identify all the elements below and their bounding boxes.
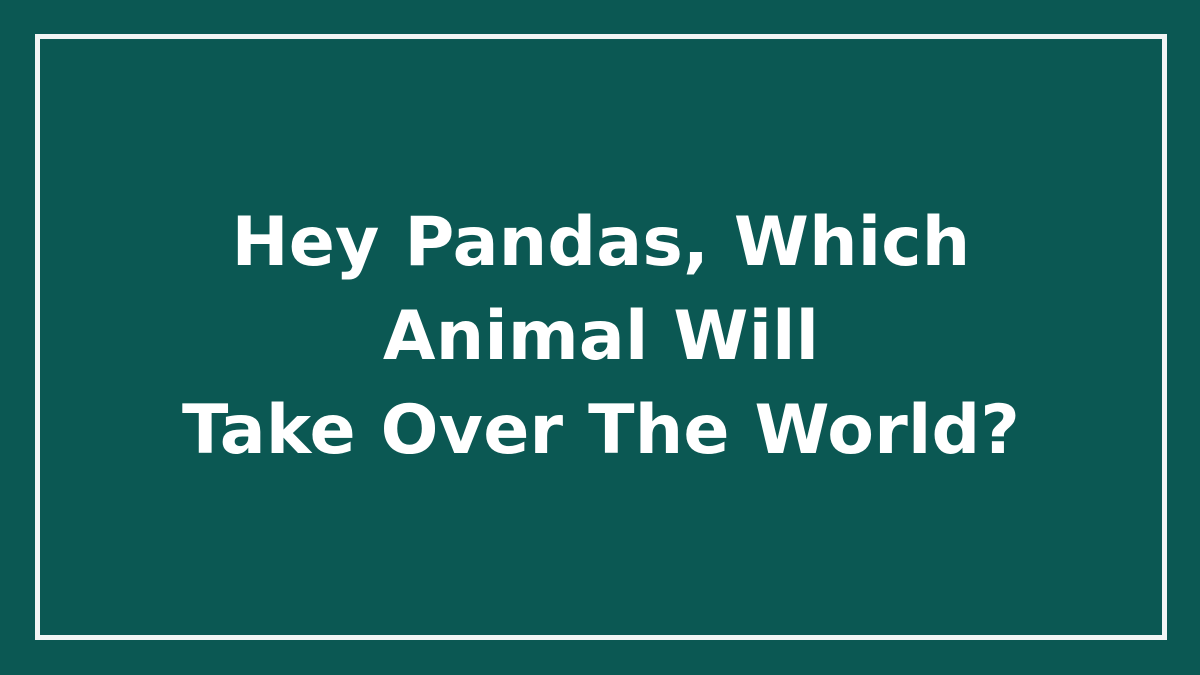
page-title: Hey Pandas, Which Animal Will Take Over … xyxy=(101,196,1101,478)
title-card: Hey Pandas, Which Animal Will Take Over … xyxy=(0,0,1200,675)
headline-container: Hey Pandas, Which Animal Will Take Over … xyxy=(35,34,1167,640)
